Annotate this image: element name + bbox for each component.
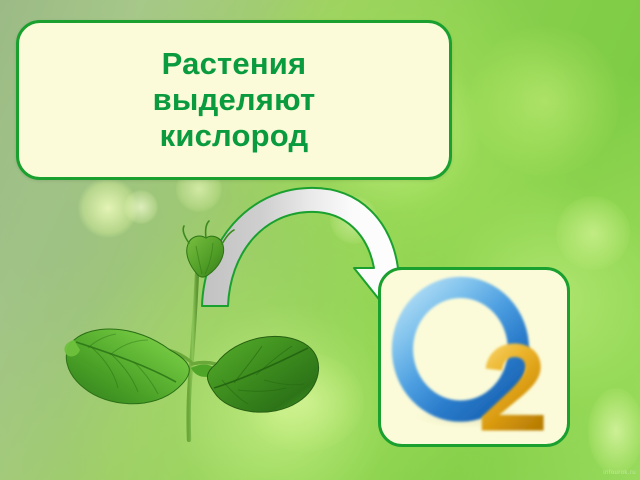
- bokeh-circle: [330, 196, 378, 244]
- bokeh-circle: [124, 190, 158, 224]
- o2-card: [378, 267, 570, 447]
- bokeh-circle: [470, 26, 620, 176]
- bokeh-circle: [78, 178, 138, 238]
- plant-sprout: [58, 212, 326, 442]
- page-title: Растения выделяют кислород: [143, 46, 326, 154]
- watermark: infourok.ru: [603, 470, 636, 476]
- bokeh-circle: [556, 196, 630, 270]
- o2-symbol: [381, 270, 567, 444]
- title-card: Растения выделяют кислород: [16, 20, 452, 180]
- bokeh-circle: [588, 388, 640, 474]
- bokeh-circle: [244, 352, 364, 452]
- slide-canvas: Растения выделяют кислород: [0, 0, 640, 480]
